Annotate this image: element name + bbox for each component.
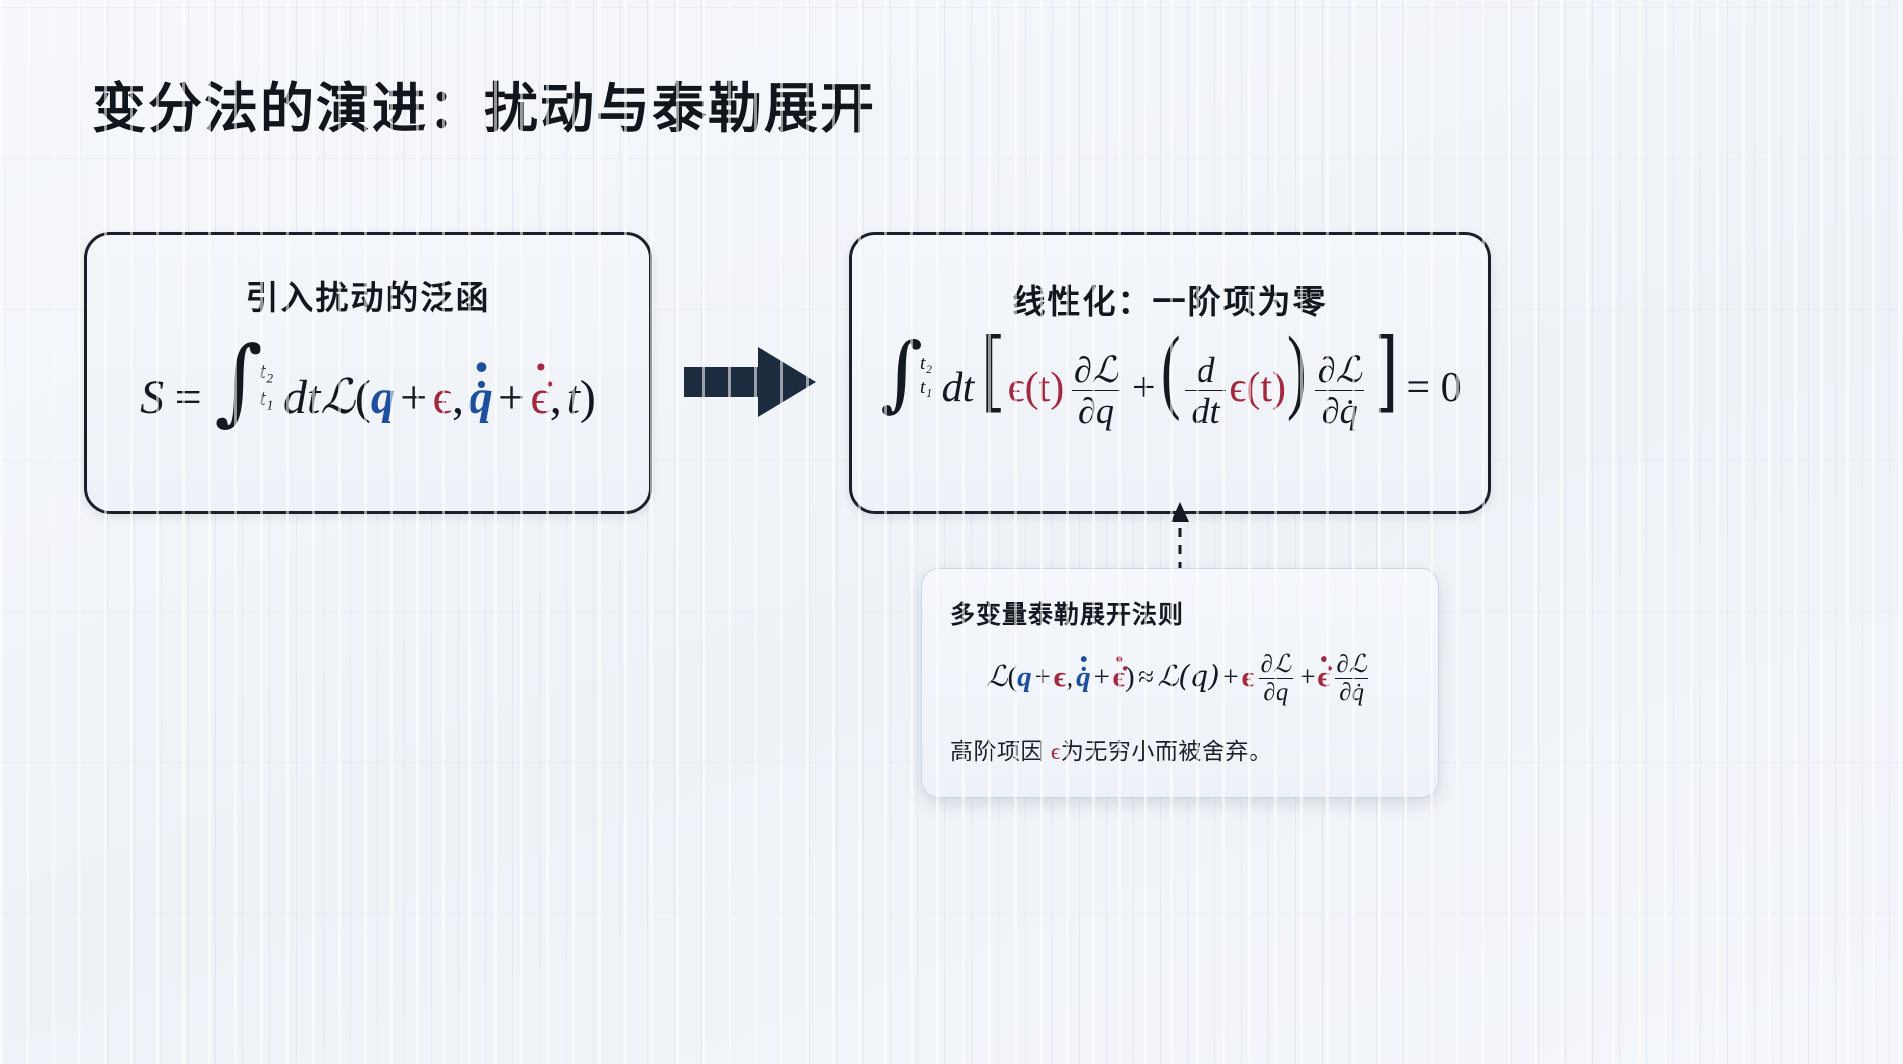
tt-comma: , [1066, 661, 1073, 693]
formula-equals: = [175, 371, 202, 424]
tt-close-paren: ) [1125, 661, 1135, 693]
tt-plus-3: + [1220, 661, 1242, 693]
tt-plus-2: + [1091, 661, 1113, 693]
tt-qdot: q̇ [1076, 663, 1091, 692]
integral-symbol-right: ∫t₂t₁ [880, 341, 932, 407]
tt-plus-1: + [1032, 661, 1054, 693]
open-bracket: [ [981, 345, 1006, 398]
formula-close-paren: ) [580, 371, 596, 424]
implies-arrow-icon [684, 345, 818, 419]
tt-epsilondot: ϵ̇ [1113, 663, 1125, 692]
tooltip-note: 高阶项因 ϵ为无穷小而被舍弃。 [950, 732, 1410, 766]
close-bracket: ] [1374, 345, 1399, 398]
right-card-formula: ∫t₂t₁dt[ϵ(t)∂ℒ∂q+(ddtϵ(t))∂ℒ∂q̇]= 0 [852, 341, 1488, 430]
formula-lagrangian: ℒ [320, 369, 355, 425]
integral-lower-limit-right: t₁ [920, 378, 932, 397]
left-card-formula: S=∫t₂t₁dtℒ(q+ϵ,q̇+ϵ̇,t) [87, 345, 649, 422]
equals-zero: = 0 [1406, 365, 1461, 411]
tt-epsilon-2: ϵ [1242, 661, 1254, 693]
formula-comma-2: , [550, 371, 562, 424]
formula-epsilon: ϵ [433, 371, 452, 424]
formula-measure-dt: dt [283, 371, 320, 424]
tt-open-paren: ( [1007, 661, 1017, 693]
tooltip-formula: ℒ(q+ϵ,q̇+ϵ̇)≈ℒ(q)+ϵ∂ℒ∂q+ϵ̇∂ℒ∂q̇ [950, 653, 1410, 706]
formula-plus-2: + [493, 371, 531, 424]
tooltip-note-prefix: 高阶项因 [950, 738, 1051, 764]
formula-q: q [371, 371, 395, 424]
formula-open-paren: ( [355, 371, 371, 424]
page-title: 变分法的演进：扰动与泰勒展开 [92, 64, 876, 143]
tt-q: q [1017, 661, 1032, 693]
tt-lagrangian-q: ℒ(q) [1158, 659, 1220, 693]
tooltip-note-suffix: 为无穷小而被舍弃。 [1061, 738, 1273, 764]
formula-t: t [567, 371, 580, 424]
card-perturbed-functional[interactable]: 引入扰动的泛函 S=∫t₂t₁dtℒ(q+ϵ,q̇+ϵ̇,t) [84, 232, 652, 514]
d-dt-operator: ddt [1185, 352, 1226, 429]
right-card-title: 线性化：一阶项为零 [852, 275, 1488, 323]
formula-qdot: q̇ [469, 374, 493, 422]
tt-approx: ≈ [1135, 661, 1158, 693]
tt-lagrangian: ℒ [987, 659, 1008, 693]
epsilon-of-t-2: ϵ(t) [1229, 365, 1286, 411]
close-paren-big: ) [1287, 342, 1307, 399]
tt-partial-L-partial-q: ∂ℒ∂q [1256, 653, 1295, 706]
card-linearization[interactable]: 线性化：一阶项为零 ∫t₂t₁dt[ϵ(t)∂ℒ∂q+(ddtϵ(t))∂ℒ∂q… [849, 232, 1491, 514]
formula-epsilondot: ϵ̇ [530, 374, 549, 422]
integral-upper-limit: t₂ [260, 360, 274, 382]
tt-epsilon: ϵ [1054, 661, 1066, 693]
integral-upper-limit-right: t₂ [920, 354, 932, 373]
formula-lhs-S: S [140, 371, 164, 424]
tooltip-title: 多变量泰勒展开法则 [950, 595, 1410, 631]
integral-symbol-left: ∫t₂t₁ [214, 345, 273, 420]
tt-epsilondot-2: ϵ̇ [1318, 663, 1330, 692]
slide-background: 变分法的演进：扰动与泰勒展开 引入扰动的泛函 S=∫t₂t₁dtℒ(q+ϵ,q̇… [0, 0, 1903, 1064]
formula-comma: , [452, 371, 464, 424]
tooltip-note-epsilon: ϵ [1051, 739, 1061, 765]
tt-partial-L-partial-qdot: ∂ℒ∂q̇ [1332, 653, 1371, 706]
left-card-title: 引入扰动的泛函 [87, 271, 649, 319]
partial-L-partial-q: ∂ℒ∂q [1068, 352, 1125, 429]
right-measure-dt: dt [942, 365, 975, 411]
epsilon-of-t: ϵ(t) [1008, 365, 1065, 411]
right-plus: + [1128, 365, 1160, 411]
partial-L-partial-qdot: ∂ℒ∂q̇ [1311, 352, 1368, 429]
taylor-expansion-callout[interactable]: 多变量泰勒展开法则 ℒ(q+ϵ,q̇+ϵ̇)≈ℒ(q)+ϵ∂ℒ∂q+ϵ̇∂ℒ∂q… [921, 568, 1439, 798]
tt-plus-4: + [1298, 661, 1318, 693]
open-paren-big: ( [1161, 342, 1181, 399]
formula-plus-1: + [395, 371, 433, 424]
integral-lower-limit: t₁ [260, 387, 274, 409]
